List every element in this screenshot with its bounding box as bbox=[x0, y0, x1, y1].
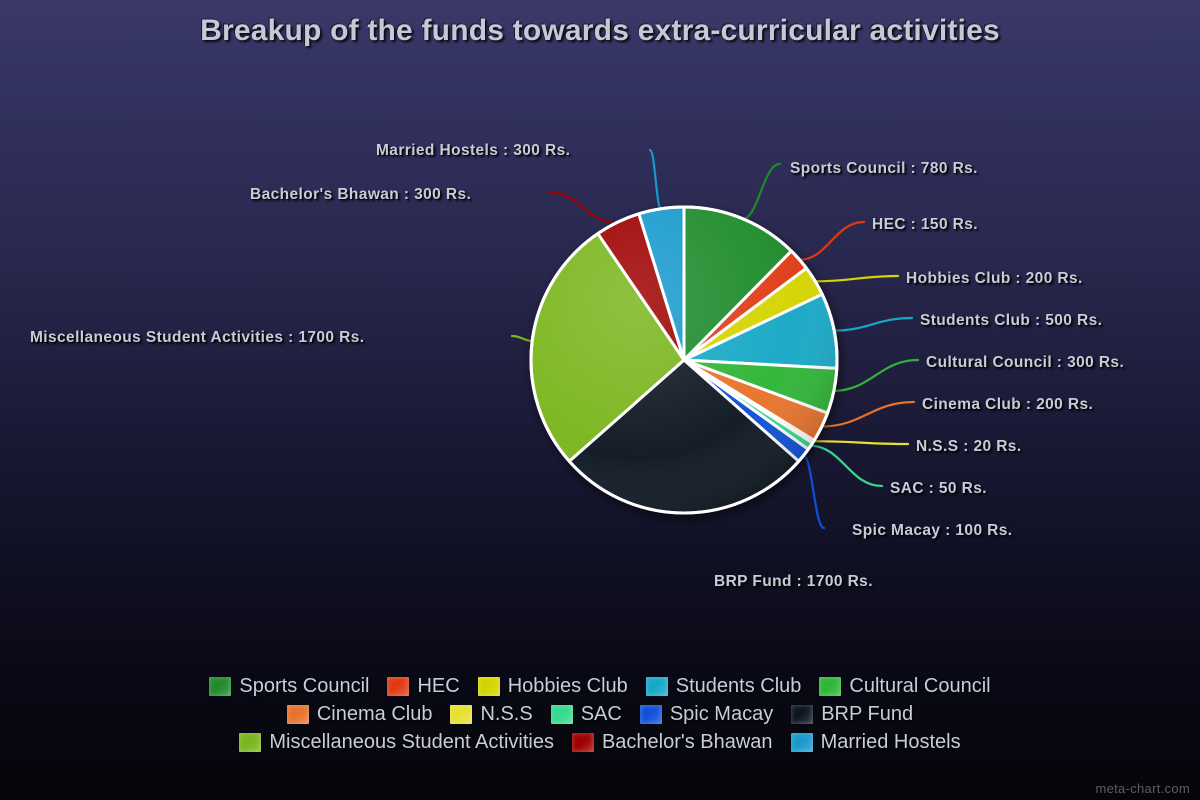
callout-cultural-council: Cultural Council : 300 Rs. bbox=[926, 354, 1124, 372]
callout-miscellaneous-student-activities: Miscellaneous Student Activities : 1700 … bbox=[30, 329, 364, 347]
leader-line bbox=[650, 150, 661, 210]
legend-row-1: Sports Council HEC Hobbies Club Students… bbox=[0, 672, 1200, 700]
legend-label-married-hostels: Married Hostels bbox=[821, 731, 961, 754]
leader-line bbox=[813, 441, 909, 444]
legend-swatch-married-hostels bbox=[791, 733, 813, 752]
callout-bachelors-bhawan: Bachelor's Bhawan : 300 Rs. bbox=[250, 186, 471, 204]
leader-line bbox=[810, 446, 882, 486]
legend-item-bachelors-bhawan[interactable]: Bachelor's Bhawan bbox=[572, 731, 773, 754]
callout-hec: HEC : 150 Rs. bbox=[872, 216, 978, 234]
pie-slices bbox=[531, 207, 837, 513]
leader-line bbox=[548, 192, 618, 223]
legend-item-cinema-club[interactable]: Cinema Club bbox=[287, 703, 433, 726]
legend-item-brp-fund[interactable]: BRP Fund bbox=[791, 703, 913, 726]
legend-swatch-cinema-club bbox=[287, 705, 309, 724]
legend-item-cultural-council[interactable]: Cultural Council bbox=[819, 675, 990, 698]
callout-hobbies-club: Hobbies Club : 200 Rs. bbox=[906, 270, 1083, 288]
legend-swatch-hec bbox=[387, 677, 409, 696]
legend-label-cultural-council: Cultural Council bbox=[849, 675, 990, 698]
legend-swatch-bachelors-bhawan bbox=[572, 733, 594, 752]
callout-sports-council: Sports Council : 780 Rs. bbox=[790, 160, 978, 178]
legend-label-students-club: Students Club bbox=[676, 675, 802, 698]
legend-item-nss[interactable]: N.S.S bbox=[450, 703, 532, 726]
legend-swatch-sac bbox=[551, 705, 573, 724]
leader-line bbox=[814, 276, 898, 281]
legend-swatch-students-club bbox=[646, 677, 668, 696]
legend-label-cinema-club: Cinema Club bbox=[317, 703, 433, 726]
legend-swatch-hobbies-club bbox=[478, 677, 500, 696]
legend-item-sac[interactable]: SAC bbox=[551, 703, 622, 726]
leader-line bbox=[833, 318, 912, 331]
chart-canvas: Breakup of the funds towards extra-curri… bbox=[0, 0, 1200, 800]
legend-swatch-cultural-council bbox=[819, 677, 841, 696]
callout-sac: SAC : 50 Rs. bbox=[890, 480, 987, 498]
leader-line bbox=[803, 455, 824, 528]
watermark: meta-chart.com bbox=[1095, 781, 1190, 796]
legend-label-hobbies-club: Hobbies Club bbox=[508, 675, 628, 698]
legend-label-bachelors-bhawan: Bachelor's Bhawan bbox=[602, 731, 773, 754]
legend-label-sports-council: Sports Council bbox=[239, 675, 369, 698]
callout-cinema-club: Cinema Club : 200 Rs. bbox=[922, 396, 1093, 414]
legend-label-brp-fund: BRP Fund bbox=[821, 703, 913, 726]
chart-legend: Sports Council HEC Hobbies Club Students… bbox=[0, 672, 1200, 756]
legend-item-married-hostels[interactable]: Married Hostels bbox=[791, 731, 961, 754]
legend-label-spic-macay: Spic Macay bbox=[670, 703, 773, 726]
leader-line bbox=[799, 222, 865, 260]
legend-item-hobbies-club[interactable]: Hobbies Club bbox=[478, 675, 628, 698]
legend-item-spic-macay[interactable]: Spic Macay bbox=[640, 703, 773, 726]
callout-spic-macay: Spic Macay : 100 Rs. bbox=[852, 522, 1013, 540]
callout-brp-fund: BRP Fund : 1700 Rs. bbox=[714, 573, 873, 591]
legend-swatch-miscellaneous-student-activities bbox=[239, 733, 261, 752]
legend-swatch-nss bbox=[450, 705, 472, 724]
legend-item-students-club[interactable]: Students Club bbox=[646, 675, 802, 698]
leader-line bbox=[684, 512, 706, 578]
legend-label-sac: SAC bbox=[581, 703, 622, 726]
callout-nss: N.S.S : 20 Rs. bbox=[916, 438, 1022, 456]
legend-row-3: Miscellaneous Student Activities Bachelo… bbox=[0, 728, 1200, 756]
legend-row-2: Cinema Club N.S.S SAC Spic Macay BRP Fun… bbox=[0, 700, 1200, 728]
legend-swatch-sports-council bbox=[209, 677, 231, 696]
legend-swatch-spic-macay bbox=[640, 705, 662, 724]
legend-label-nss: N.S.S bbox=[480, 703, 532, 726]
legend-label-hec: HEC bbox=[417, 675, 459, 698]
legend-item-sports-council[interactable]: Sports Council bbox=[209, 675, 369, 698]
legend-label-miscellaneous-student-activities: Miscellaneous Student Activities bbox=[269, 731, 554, 754]
legend-swatch-brp-fund bbox=[791, 705, 813, 724]
leader-line bbox=[821, 402, 914, 427]
callout-students-club: Students Club : 500 Rs. bbox=[920, 312, 1102, 330]
leader-line bbox=[512, 336, 533, 341]
leader-line bbox=[742, 164, 780, 219]
leader-line bbox=[833, 360, 918, 391]
legend-item-miscellaneous-student-activities[interactable]: Miscellaneous Student Activities bbox=[239, 731, 554, 754]
callout-married-hostels: Married Hostels : 300 Rs. bbox=[376, 142, 570, 160]
legend-item-hec[interactable]: HEC bbox=[387, 675, 459, 698]
